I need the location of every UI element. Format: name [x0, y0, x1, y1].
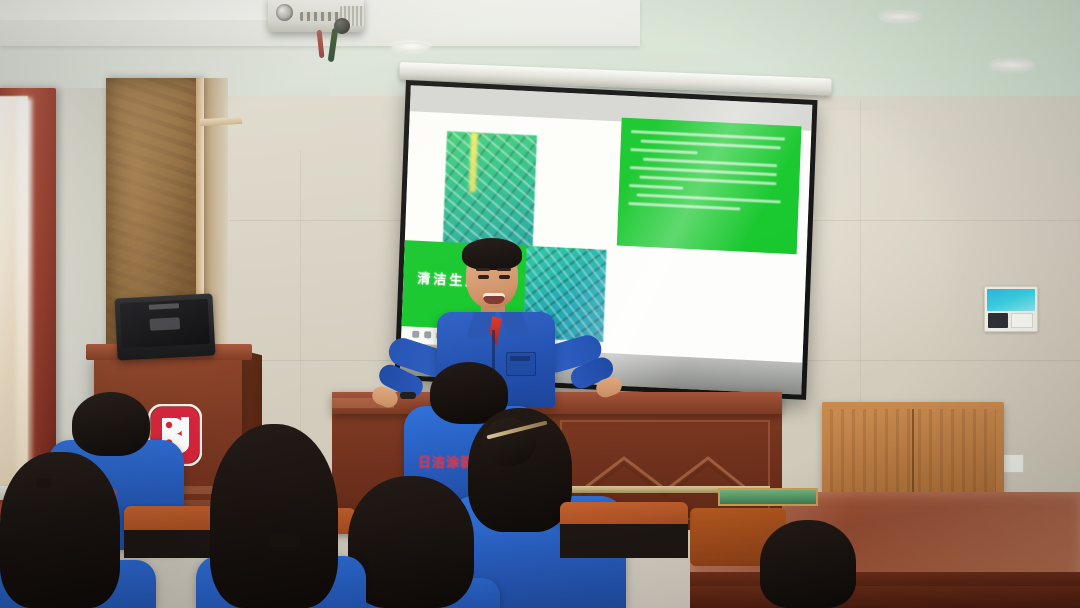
cabinet-door-split [912, 409, 914, 503]
slide-bullet-line [629, 184, 683, 190]
slide-bullet-line [628, 202, 740, 210]
slide-bullet-line [637, 193, 781, 203]
presenter-eye-right [499, 275, 510, 279]
presenter-wristwatch [400, 392, 416, 399]
slide-bullet-line [630, 148, 697, 154]
control-panel-display [987, 289, 1035, 311]
attendee-right-hair [760, 520, 856, 608]
projector-lens-icon [276, 4, 293, 21]
monitor-badge [150, 317, 181, 331]
slide-bullet-line [640, 140, 781, 150]
pointer-icon[interactable] [424, 331, 431, 338]
presenter-eye-left [478, 275, 489, 279]
slide-bullet-line [631, 130, 785, 141]
presenter-hair [462, 238, 522, 270]
attendee-mid-foreground-hair [348, 476, 474, 608]
downlight-7 [392, 42, 430, 51]
stage-front-face [690, 586, 1080, 608]
chair-center-shadow [560, 524, 688, 558]
slide-bullet-panel [617, 118, 802, 255]
hair-tie-icon [268, 534, 300, 547]
slide-bullet-line [643, 158, 777, 168]
control-panel-keypad[interactable] [988, 313, 1008, 328]
chair-center[interactable] [560, 502, 688, 526]
attendee-far-left-hair [0, 452, 120, 608]
fold-down-desk[interactable] [718, 488, 818, 506]
presenter-eyebrow-right [497, 268, 511, 271]
stage-edge [690, 572, 1080, 586]
window-light-glare [16, 98, 32, 480]
slide-photo-left [443, 131, 537, 247]
podium-monitor[interactable] [114, 293, 215, 360]
pen-icon[interactable] [412, 330, 419, 337]
slide-bullet-line [630, 166, 777, 176]
slide-bullet-line [639, 175, 777, 185]
downlight-6 [880, 12, 920, 21]
hair-tie-icon-2 [36, 478, 52, 488]
meeting-room-photo: 清洁生产技术 [0, 0, 1080, 608]
presenter-eyebrow-left [476, 268, 490, 271]
presenter-pocket-flap [510, 356, 530, 361]
downlight-5 [990, 60, 1034, 70]
attendee-center-hair [210, 424, 338, 608]
ceiling-soffit-upper [0, 0, 300, 20]
control-panel-label [1011, 313, 1033, 328]
attendee-left-hair [72, 392, 150, 456]
presenter-mouth [483, 293, 505, 304]
wall-control-panel[interactable] [984, 286, 1038, 332]
